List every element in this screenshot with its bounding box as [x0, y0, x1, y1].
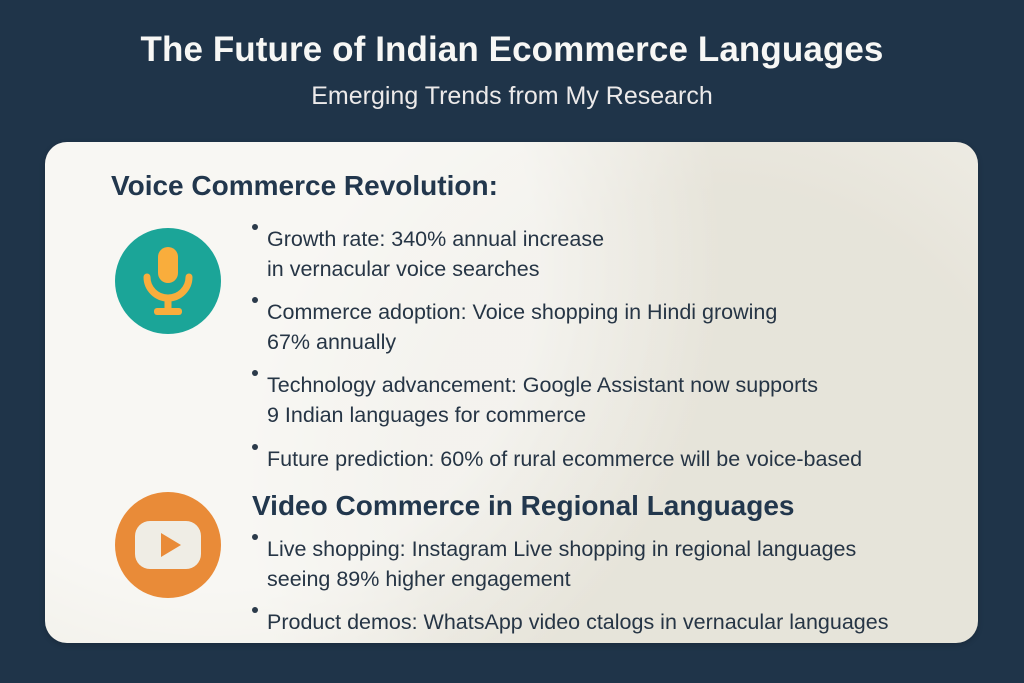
page-subtitle: Emerging Trends from My Research: [0, 81, 1024, 111]
section-heading-voice: Voice Commerce Revolution:: [111, 170, 498, 202]
microphone-icon: [115, 228, 221, 334]
list-item-text: Future prediction: 60% of rural ecommerc…: [267, 444, 992, 474]
list-item-text: Technology advancement: Google Assistant…: [267, 370, 992, 430]
list-item: Commerce adoption: Voice shopping in Hin…: [252, 297, 992, 357]
section-heading-video: Video Commerce in Regional Languages: [252, 490, 795, 522]
list-item-text: Product demos: WhatsApp video ctalogs in…: [267, 607, 1024, 637]
bullet-list-voice: Growth rate: 340% annual increase in ver…: [252, 224, 992, 487]
list-item: Growth rate: 340% annual increase in ver…: [252, 224, 992, 284]
list-item: Product demos: WhatsApp video ctalogs in…: [252, 607, 1024, 637]
slide-canvas: The Future of Indian Ecommerce Languages…: [0, 0, 1024, 683]
bullet-dot-icon: [252, 297, 267, 303]
list-item-text: Growth rate: 340% annual increase in ver…: [267, 224, 992, 284]
list-item-text: Live shopping: Instagram Live shopping i…: [267, 534, 1024, 594]
microphone-icon-container: [115, 228, 221, 334]
page-title: The Future of Indian Ecommerce Languages: [0, 30, 1024, 69]
bullet-dot-icon: [252, 370, 267, 376]
bullet-dot-icon: [252, 224, 267, 230]
list-item: Technology advancement: Google Assistant…: [252, 370, 992, 430]
list-item: Live shopping: Instagram Live shopping i…: [252, 534, 1024, 594]
play-button-icon: [115, 492, 221, 598]
content-card: Voice Commerce Revolution: Growth rate: …: [45, 142, 978, 643]
bullet-dot-icon: [252, 534, 267, 540]
bullet-list-video: Live shopping: Instagram Live shopping i…: [252, 534, 1024, 637]
list-item: Future prediction: 60% of rural ecommerc…: [252, 444, 992, 474]
bullet-dot-icon: [252, 607, 267, 613]
slide-header: The Future of Indian Ecommerce Languages…: [0, 0, 1024, 111]
bullet-dot-icon: [252, 444, 267, 450]
play-button-icon-container: [115, 492, 221, 598]
list-item-text: Commerce adoption: Voice shopping in Hin…: [267, 297, 992, 357]
